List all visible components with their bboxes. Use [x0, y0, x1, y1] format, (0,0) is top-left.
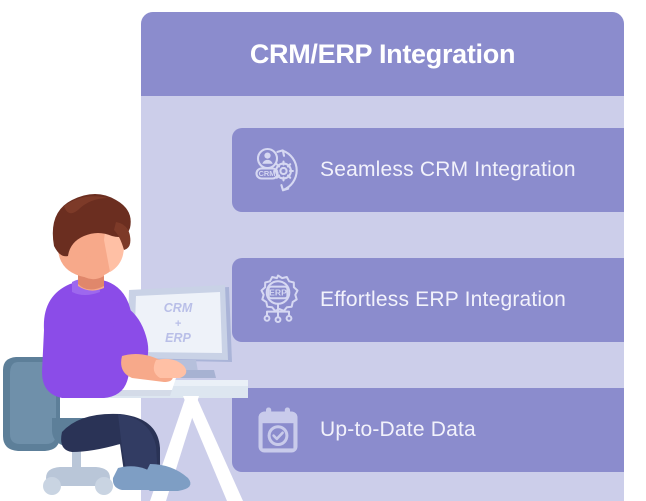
screenshot-stage: CRM/ERP Integration CRM [0, 0, 646, 501]
feature-card-label: Seamless CRM Integration [320, 158, 576, 182]
page-title: CRM/ERP Integration [250, 39, 515, 70]
calendar-check-icon [250, 402, 306, 458]
svg-text:CRM: CRM [259, 169, 276, 178]
feature-card-uptodate[interactable]: Up-to-Date Data [232, 388, 624, 472]
crm-erp-panel: CRM/ERP Integration CRM [141, 12, 624, 501]
feature-card-label: Up-to-Date Data [320, 418, 476, 442]
svg-text:ERP: ERP [269, 287, 287, 297]
feature-card-label: Effortless ERP Integration [320, 288, 566, 312]
crm-integration-icon: CRM [250, 142, 306, 198]
feature-card-erp[interactable]: ERP Effortless ERP Integration [232, 258, 624, 342]
feature-card-crm[interactable]: CRM Seamless CRM Integration [232, 128, 624, 212]
panel-header: CRM/ERP Integration [141, 12, 624, 96]
office-chair [3, 357, 122, 495]
erp-integration-icon: ERP [250, 272, 306, 328]
